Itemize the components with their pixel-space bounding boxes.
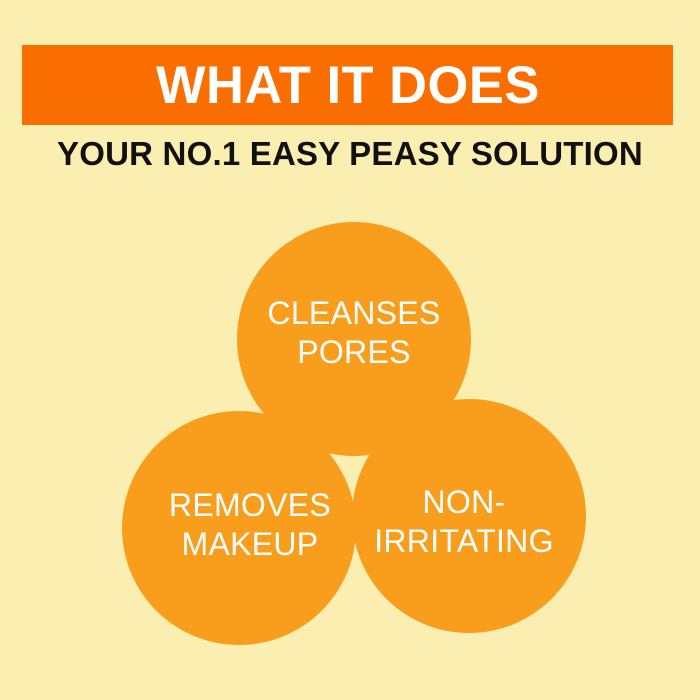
venn-label-line-2: PORES [297,334,411,370]
venn-label-line-1: REMOVES [169,487,331,523]
venn-circle-cleanses-pores: CLEANSES PORES [237,222,471,456]
venn-label-line-1: CLEANSES [267,295,440,331]
venn-circle-label: NON- IRRITATING [360,483,568,561]
venn-label-line-1: NON- [423,484,506,520]
venn-circle-label: CLEANSES PORES [253,294,454,372]
venn-diagram: CLEANSES PORES REMOVES MAKEUP NON- IRRIT… [0,0,700,700]
venn-label-line-2: MAKEUP [182,526,319,562]
venn-circle-label: REMOVES MAKEUP [155,486,345,564]
venn-label-line-2: IRRITATING [374,523,554,559]
poster-canvas: WHAT IT DOES YOUR NO.1 EASY PEASY SOLUTI… [0,0,700,700]
